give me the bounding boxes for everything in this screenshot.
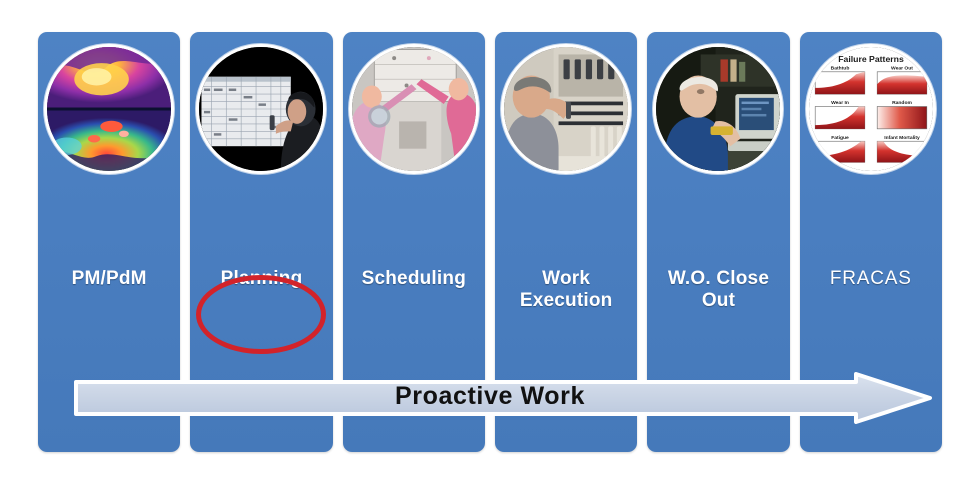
photo-frame — [501, 44, 631, 174]
svg-text:Random: Random — [892, 100, 912, 106]
step-label-line-1: W.O. Close — [668, 268, 769, 289]
photo-frame — [44, 44, 174, 174]
step-label-line-2: Out — [702, 290, 735, 311]
process-flow-diagram: PM/PdM — [0, 0, 980, 492]
photo-frame — [653, 44, 783, 174]
svg-text:Bathtub: Bathtub — [830, 65, 849, 71]
step-label-line-2: Execution — [520, 290, 613, 311]
step-label-wo-close-out: W.O. Close Out — [651, 268, 785, 313]
failure-patterns-chart-image: Failure Patterns Bathtub Wear Out — [809, 47, 933, 171]
svg-text:Fatigue: Fatigue — [831, 135, 849, 141]
step-label-fracas: FRACAS — [804, 268, 938, 290]
svg-text:Failure Patterns: Failure Patterns — [838, 54, 904, 64]
proactive-work-arrow — [74, 372, 934, 424]
scheduling-board-image — [352, 47, 476, 171]
step-label-scheduling: Scheduling — [347, 268, 481, 290]
planner-with-schedule-image — [199, 47, 323, 171]
svg-text:Wear In: Wear In — [831, 100, 849, 106]
svg-text:Wear Out: Wear Out — [891, 65, 913, 71]
technician-at-panel-image — [504, 47, 628, 171]
step-label-planning: Planning — [194, 268, 328, 290]
step-label-pm-pdm: PM/PdM — [42, 268, 176, 290]
step-label-line-1: Work — [542, 268, 590, 289]
step-label-work-execution: Work Execution — [499, 268, 633, 313]
photo-frame — [349, 44, 479, 174]
operator-at-computer-image — [656, 47, 780, 171]
photo-frame: Failure Patterns Bathtub Wear Out — [806, 44, 936, 174]
thermography-scan-image — [47, 47, 171, 171]
photo-frame — [196, 44, 326, 174]
svg-text:Infant Mortality: Infant Mortality — [884, 135, 920, 141]
